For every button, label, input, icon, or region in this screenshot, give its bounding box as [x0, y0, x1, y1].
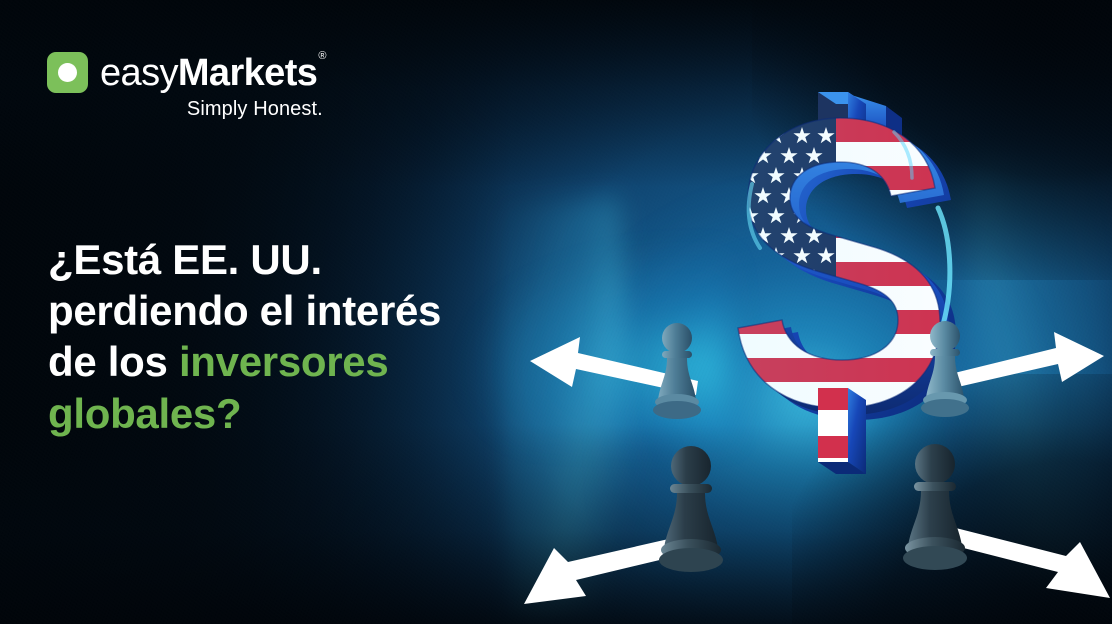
chess-pawn-front-right	[896, 438, 974, 578]
logo-word-easy: easy	[100, 52, 178, 94]
registered-trademark-icon: ®	[318, 50, 326, 62]
logo-tagline: Simply Honest.	[187, 98, 323, 121]
logo-row: easyMarkets®	[47, 52, 325, 93]
logo-square-icon	[47, 52, 88, 93]
headline-line-3-white: de los	[48, 338, 179, 385]
chess-pawn-back-right	[916, 316, 974, 424]
logo-dot-icon	[58, 63, 77, 82]
headline: ¿Está EE. UU. perdiendo el interés de lo…	[48, 234, 528, 439]
promo-banner: easyMarkets® Simply Honest. ¿Está EE. UU…	[0, 0, 1112, 624]
logo-wordmark: easyMarkets®	[100, 54, 325, 92]
headline-line-3: de los inversores	[48, 336, 528, 387]
headline-line-3-green: inversores	[179, 338, 388, 385]
chess-pawn-back-left	[648, 318, 706, 426]
headline-line-2: perdiendo el interés	[48, 285, 528, 336]
easymarkets-logo[interactable]: easyMarkets® Simply Honest.	[47, 52, 325, 121]
chess-pawn-front-left	[652, 440, 730, 580]
headline-line-1: ¿Está EE. UU.	[48, 234, 528, 285]
headline-line-4: globales?	[48, 388, 528, 439]
logo-word-markets: Markets	[178, 52, 317, 94]
